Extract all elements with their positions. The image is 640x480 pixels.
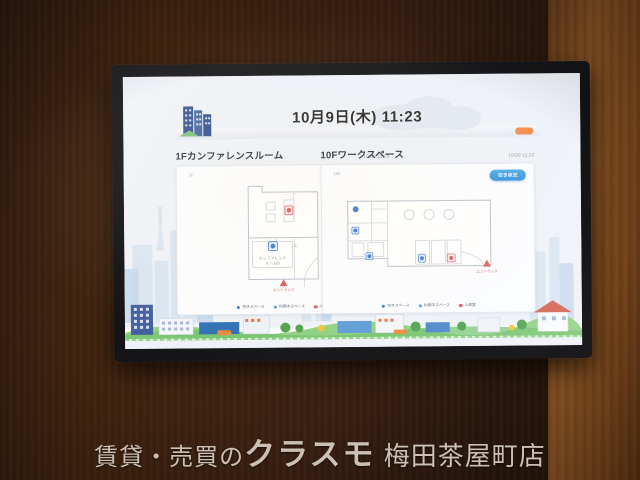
marker-desk-1 — [353, 206, 359, 212]
panel-title-conference: 1Fカンファレンスルーム — [175, 148, 283, 163]
caption-brand: クラスモ — [244, 437, 375, 472]
caption-suffix: 梅田茶屋町店 — [384, 441, 546, 471]
panel-title-workspace: 10Fワークスペース — [320, 147, 404, 162]
svg-text:エントランス: エントランス — [273, 287, 295, 292]
store-caption: 賃貸・売買のクラスモ 梅田茶屋町店 — [0, 429, 640, 474]
svg-text:エントランス: エントランス — [476, 268, 498, 273]
panel-card-workspace[interactable]: 10F 空き状況 — [321, 162, 536, 314]
floor-note-conference: 1F — [189, 172, 194, 177]
floor-note-workspace: 10F — [334, 171, 341, 176]
panel-workspace: 10Fワークスペース 10/09 11:23 10F 空き状況 — [320, 145, 535, 314]
header-datetime: 10月9日(木) 11:23 — [175, 103, 539, 132]
panel-header-workspace: 10Fワークスペース 10/09 11:23 — [320, 145, 534, 161]
marker-desk-2 — [352, 227, 359, 234]
panel-updated-workspace: 10/09 11:23 — [508, 152, 534, 157]
header-band: 10月9日(木) 11:23 — [175, 103, 539, 140]
marker-room-b — [268, 242, 277, 251]
floorplan-workspace[interactable]: エントランス — [322, 177, 535, 297]
marker-desk-3 — [366, 253, 373, 260]
svg-text:ルームB: ルームB — [265, 260, 280, 265]
signage-page: 10月9日(木) 11:23 1Fカンファレンスルーム 10/09 11:23 … — [123, 73, 582, 349]
caption-prefix: 賃貸・売買の — [94, 444, 244, 471]
wall-mounted-monitor: 10月9日(木) 11:23 1Fカンファレンスルーム 10/09 11:23 … — [112, 61, 593, 362]
marker-room-a — [285, 206, 293, 215]
city-illustration — [125, 295, 582, 341]
monitor-screen[interactable]: 10月9日(木) 11:23 1Fカンファレンスルーム 10/09 11:23 … — [123, 73, 582, 349]
marker-booth-2 — [447, 254, 455, 262]
train-icon — [515, 127, 533, 134]
entrance-marker-conference: エントランス — [273, 279, 295, 292]
marker-booth-1 — [418, 254, 425, 262]
